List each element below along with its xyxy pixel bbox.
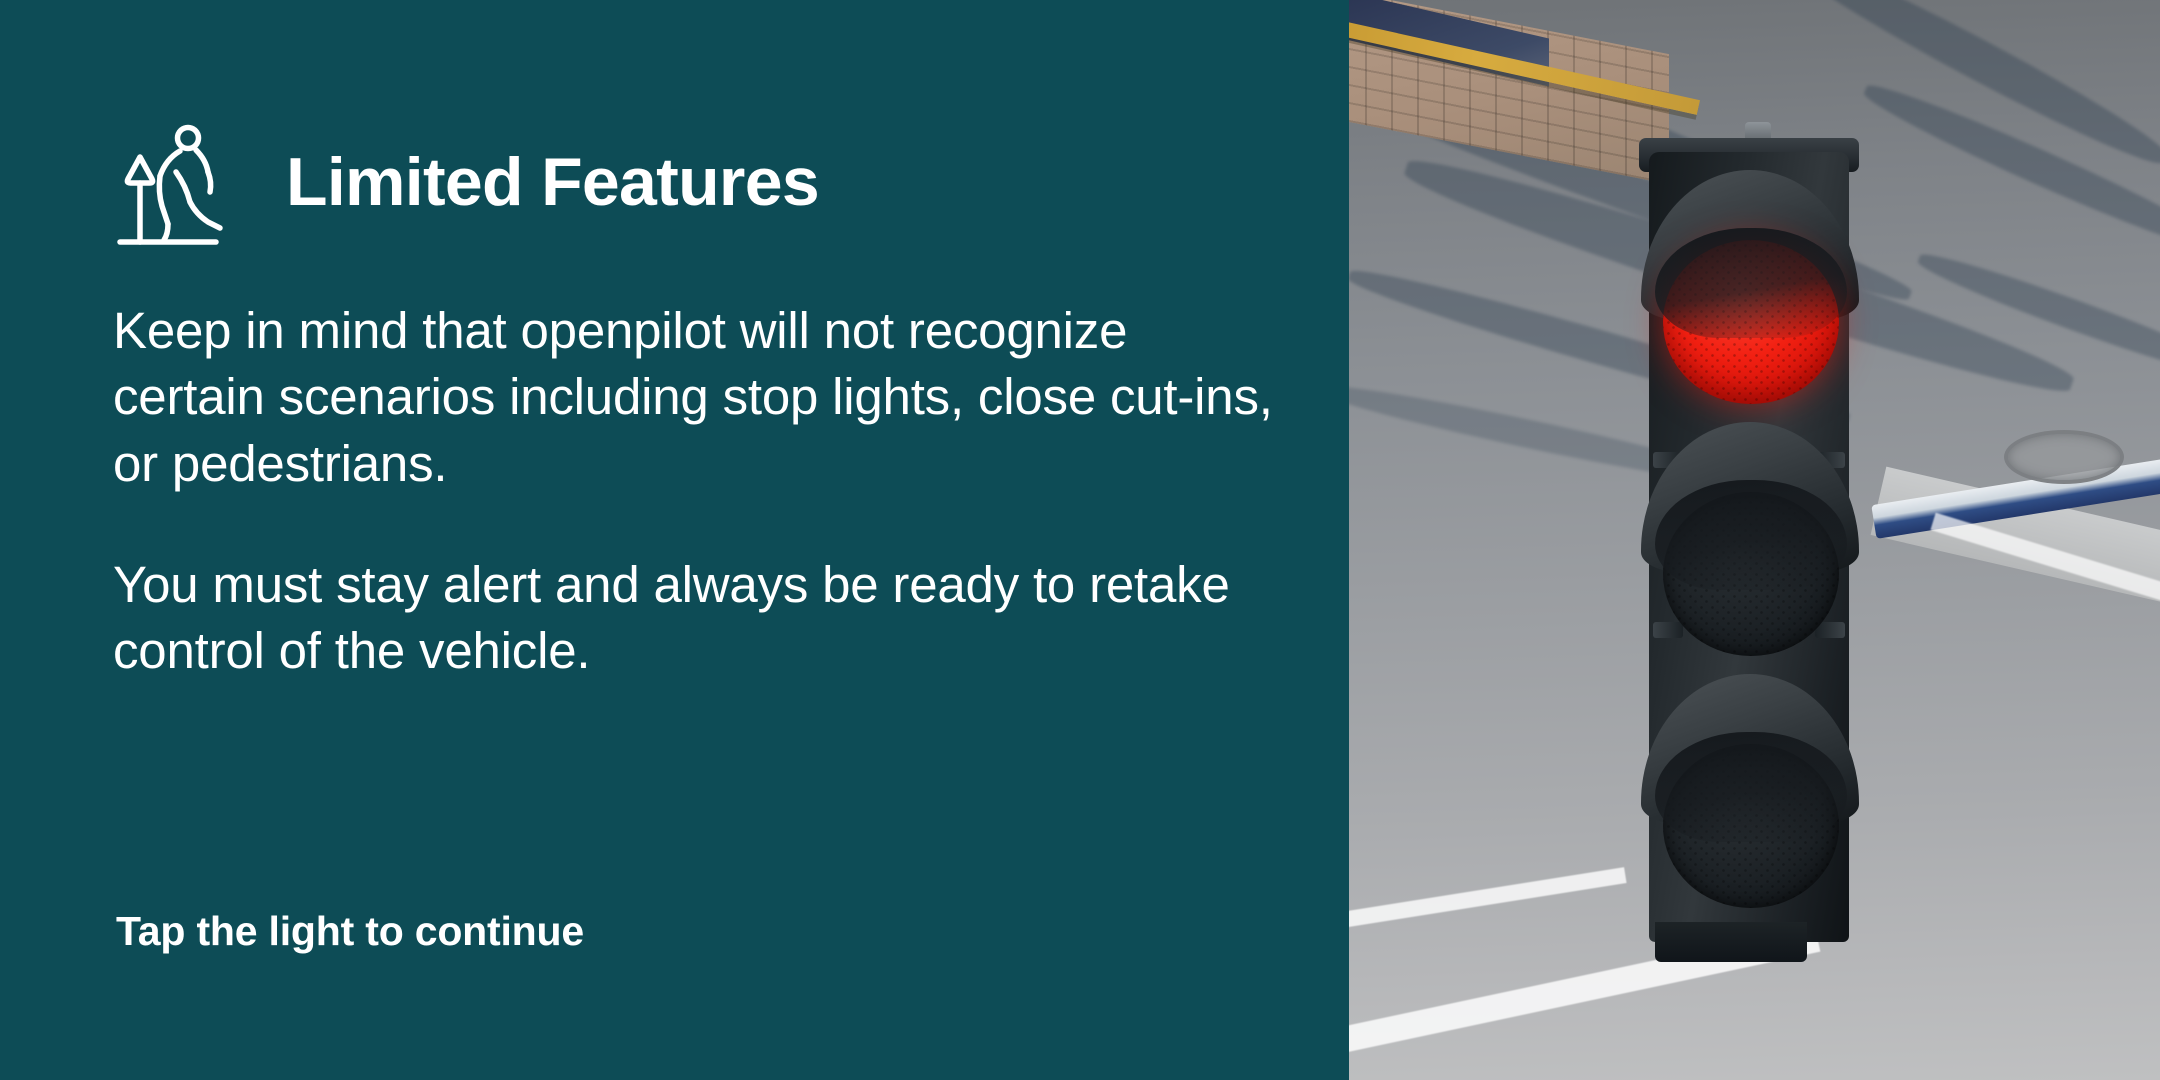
traffic-light-base	[1655, 922, 1807, 962]
paragraph-limitations: Keep in mind that openpilot will not rec…	[113, 298, 1273, 497]
pedestrian-crossing-sign-icon	[116, 110, 248, 258]
tap-the-light-instruction: Tap the light to continue	[116, 908, 584, 955]
red-lens	[1663, 240, 1839, 404]
info-panel: Limited Features Keep in mind that openp…	[0, 0, 1349, 1080]
body-copy: Keep in mind that openpilot will not rec…	[113, 298, 1273, 684]
traffic-light-photo[interactable]	[1349, 0, 2160, 1080]
onboarding-screen: Limited Features Keep in mind that openp…	[0, 0, 2160, 1080]
page-title: Limited Features	[286, 148, 819, 216]
traffic-light-fixture[interactable]	[1621, 122, 1883, 962]
amber-lens	[1663, 492, 1839, 656]
traffic-light-lamp-amber[interactable]	[1641, 422, 1859, 672]
traffic-light-lamp-red[interactable]	[1641, 170, 1859, 420]
traffic-light-lamp-green[interactable]	[1641, 674, 1859, 924]
paragraph-stay-alert: You must stay alert and always be ready …	[113, 552, 1273, 685]
manhole-cover	[2004, 430, 2124, 484]
green-lens	[1663, 744, 1839, 908]
panel-header: Limited Features	[116, 108, 819, 256]
